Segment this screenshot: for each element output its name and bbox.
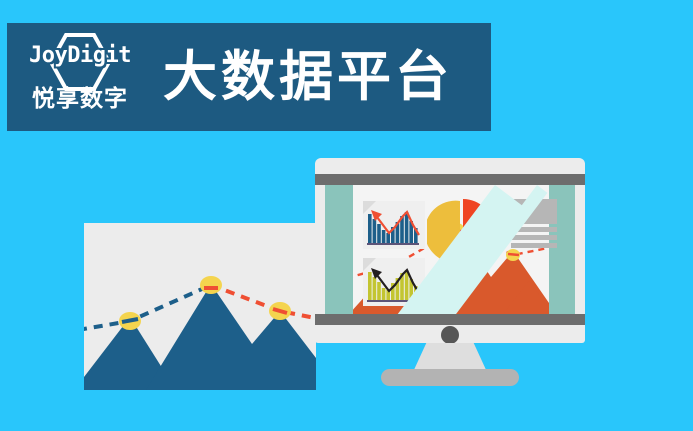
- bar-chart-olive: [363, 258, 425, 306]
- page-fold-corner: [363, 258, 376, 271]
- data-marker: [200, 276, 222, 294]
- placeholder-line: [511, 227, 557, 232]
- marker-line-overlay: [508, 254, 519, 255]
- monitor-stand-base: [381, 369, 519, 386]
- page-title: 大数据平台: [163, 50, 453, 104]
- placeholder-line: [511, 243, 557, 248]
- logo-subtitle: 悦享数字: [21, 87, 139, 110]
- bar-chart-card-olive: [363, 258, 425, 306]
- bar-chart-card-blue: [363, 201, 425, 249]
- mountain-shape-main: [146, 284, 316, 390]
- pie-slice-red: [463, 199, 494, 230]
- monitor-screen: [325, 185, 575, 314]
- placeholder-line: [511, 235, 557, 240]
- logo-wordmark: JoyDigit: [21, 45, 139, 67]
- monitor-bottom-bezel: [315, 314, 585, 325]
- left-mountain-chart: [84, 223, 316, 390]
- poster-canvas: JoyDigit 悦享数字 大数据平台: [0, 0, 693, 431]
- text-placeholder-block: [511, 199, 557, 248]
- power-button[interactable]: [441, 326, 459, 344]
- brand-logo: JoyDigit 悦享数字: [21, 31, 139, 123]
- bar-chart-blue: [363, 201, 425, 249]
- monitor-stand-neck: [413, 343, 487, 372]
- monitor: [315, 158, 585, 343]
- screen-side-band-left: [325, 185, 353, 314]
- pie-chart: [427, 197, 497, 267]
- monitor-top-bezel: [315, 174, 585, 185]
- left-mountain-panel: [84, 223, 316, 390]
- header-banner: JoyDigit 悦享数字 大数据平台: [7, 23, 491, 131]
- placeholder-heading-bar: [511, 199, 557, 224]
